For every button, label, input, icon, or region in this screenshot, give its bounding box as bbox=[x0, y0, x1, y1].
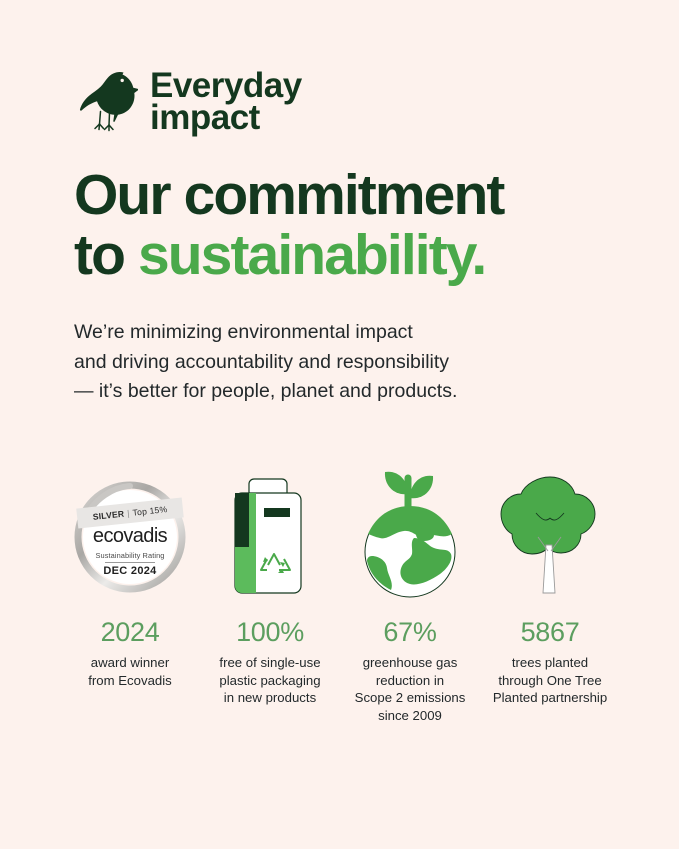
ecovadis-medal-icon: SILVER | Top 15% ecovadis Sustainability… bbox=[71, 468, 189, 603]
intro-paragraph: We’re minimizing environmental impact an… bbox=[74, 318, 554, 407]
bird-icon bbox=[76, 64, 138, 140]
stat-caption: award winner from Ecovadis bbox=[88, 654, 172, 689]
headline-line2-prefix: to bbox=[74, 223, 138, 287]
headline-line-1: Our commitment bbox=[74, 163, 503, 227]
badge-separator: | bbox=[127, 508, 130, 518]
badge-level: SILVER bbox=[92, 508, 124, 521]
caption-line: Planted partnership bbox=[493, 689, 607, 707]
caption-line: in new products bbox=[219, 689, 320, 707]
caption-line: plastic packaging bbox=[219, 672, 320, 690]
caption-line: award winner bbox=[88, 654, 172, 672]
stat-value: 67% bbox=[383, 617, 436, 648]
stat-value: 100% bbox=[236, 617, 304, 648]
sustainability-infographic: Everyday impact Our commitment to sustai… bbox=[0, 0, 679, 849]
stat-value: 5867 bbox=[521, 617, 580, 648]
caption-line: since 2009 bbox=[355, 707, 466, 725]
stat-item-emissions: 67% greenhouse gas reduction in Scope 2 … bbox=[340, 468, 480, 724]
intro-line-1: We’re minimizing environmental impact bbox=[74, 318, 554, 348]
stats-row: SILVER | Top 15% ecovadis Sustainability… bbox=[60, 468, 620, 724]
brand-wordmark: Everyday impact bbox=[150, 70, 302, 134]
intro-line-2: and driving accountability and responsib… bbox=[74, 348, 554, 378]
stat-caption: trees planted through One Tree Planted p… bbox=[493, 654, 607, 707]
page-title: Our commitment to sustainability. bbox=[74, 166, 634, 286]
headline-line-2: to sustainability. bbox=[74, 226, 634, 286]
caption-line: free of single-use bbox=[219, 654, 320, 672]
badge-date: DEC 2024 bbox=[71, 565, 189, 577]
badge-rank: Top 15% bbox=[132, 504, 168, 518]
badge-subtitle: Sustainability Rating bbox=[71, 551, 189, 560]
brand-name-line2: impact bbox=[150, 102, 302, 134]
recyclable-packaging-icon bbox=[227, 468, 313, 603]
caption-line: reduction in bbox=[355, 672, 466, 690]
caption-line: Scope 2 emissions bbox=[355, 689, 466, 707]
badge-ribbon: SILVER | Top 15% bbox=[76, 497, 184, 528]
stat-item-ecovadis: SILVER | Top 15% ecovadis Sustainability… bbox=[60, 468, 200, 724]
stat-item-trees: 5867 trees planted through One Tree Plan… bbox=[480, 468, 620, 724]
intro-line-3: — it’s better for people, planet and pro… bbox=[74, 377, 554, 407]
brand-logo: Everyday impact bbox=[76, 64, 302, 140]
globe-sprout-icon bbox=[354, 468, 466, 603]
stat-value: 2024 bbox=[101, 617, 160, 648]
badge-brand-name: ecovadis bbox=[71, 525, 189, 548]
caption-line: trees planted bbox=[493, 654, 607, 672]
badge-divider bbox=[105, 562, 155, 563]
caption-line: from Ecovadis bbox=[88, 672, 172, 690]
caption-line: through One Tree bbox=[493, 672, 607, 690]
headline-accent-word: sustainability. bbox=[138, 223, 485, 287]
stat-item-packaging: 100% free of single-use plastic packagin… bbox=[200, 468, 340, 724]
tree-icon bbox=[500, 468, 600, 603]
stat-caption: free of single-use plastic packaging in … bbox=[219, 654, 320, 707]
caption-line: greenhouse gas bbox=[355, 654, 466, 672]
stat-caption: greenhouse gas reduction in Scope 2 emis… bbox=[355, 654, 466, 724]
